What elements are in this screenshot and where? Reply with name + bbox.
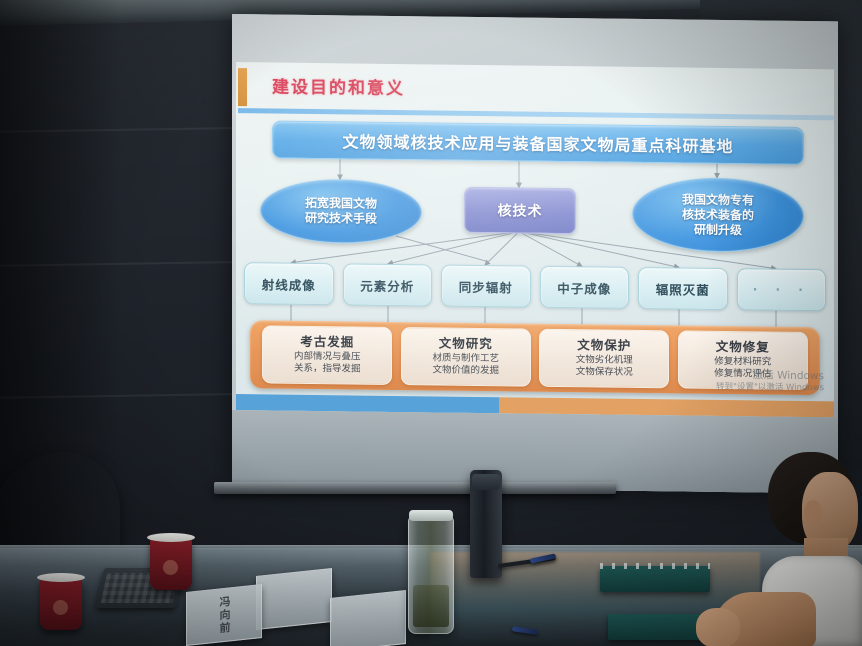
diagram-root-title: 文物领域核技术应用与装备国家文物局重点科研基地 — [272, 120, 804, 164]
node-left-goal: 拓宽我国文物 研究技术手段 — [260, 178, 422, 244]
diagram-root-title-text: 文物领域核技术应用与装备国家文物局重点科研基地 — [342, 128, 733, 157]
tech-label: 射线成像 — [262, 274, 316, 294]
name-card-3 — [330, 590, 406, 646]
name-card-1: 冯向前 — [186, 584, 262, 646]
attendee-ear — [804, 500, 822, 524]
application-band: 考古发掘 内部情况与叠压 关系，指导发掘 文物研究 材质与制作工艺 文物价值的发… — [250, 320, 820, 395]
paper-cup-left — [40, 578, 82, 630]
app-detail-2: 修复情况评估 — [714, 368, 771, 381]
name-card-text: 冯向前 — [216, 595, 232, 636]
tech-box-neutron-imaging: 中子成像 — [540, 266, 630, 309]
node-center-nuclear-tech: 核技术 — [464, 187, 576, 234]
slide-header: 建设目的和意义 — [236, 64, 834, 115]
app-detail-1: 修复材料研究 — [714, 356, 771, 369]
tech-label: 元素分析 — [360, 275, 414, 295]
node-left-label: 拓宽我国文物 研究技术手段 — [305, 196, 377, 227]
tea-leaves — [413, 585, 449, 627]
app-title: 考古发掘 — [300, 335, 354, 350]
tech-label: 同步辐射 — [459, 276, 513, 296]
app-detail-2: 关系，指导发掘 — [294, 362, 361, 375]
tech-label: 辐照灭菌 — [656, 279, 710, 299]
node-right-goal: 我国文物专有 核技术装备的 研制升级 — [632, 177, 804, 253]
app-title: 文物研究 — [439, 337, 493, 352]
name-card-2 — [256, 568, 332, 630]
app-detail-2: 文物保存状况 — [576, 366, 633, 379]
tea-jar — [408, 516, 454, 634]
conference-room-scene: 建设目的和意义 文物领域核技术应用与装备国家文物局重点科研基地 拓宽我国文物 研… — [0, 0, 862, 646]
projection-screen: 建设目的和意义 文物领域核技术应用与装备国家文物局重点科研基地 拓宽我国文物 研… — [232, 14, 838, 493]
tech-box-radiography: 射线成像 — [244, 262, 334, 305]
app-box-relic-protection: 文物保护 文物劣化机理 文物保存状况 — [539, 329, 669, 389]
app-detail-2: 文物价值的发掘 — [432, 364, 499, 377]
tech-box-ellipsis: · · · — [737, 268, 827, 311]
cup-logo-icon — [163, 560, 178, 575]
microphone — [470, 470, 502, 578]
technology-row: 射线成像 元素分析 同步辐射 中子成像 辐照灭菌 · · · — [244, 262, 826, 311]
tech-box-synchrotron: 同步辐射 — [441, 265, 531, 308]
node-right-label: 我国文物专有 核技术装备的 研制升级 — [682, 192, 754, 238]
presentation-slide: 建设目的和意义 文物领域核技术应用与装备国家文物局重点科研基地 拓宽我国文物 研… — [236, 62, 834, 417]
header-accent-bar — [238, 68, 247, 106]
app-title: 文物修复 — [716, 340, 770, 355]
app-box-relic-research: 文物研究 材质与制作工艺 文物价值的发掘 — [401, 327, 531, 387]
app-box-archaeology: 考古发掘 内部情况与叠压 关系，指导发掘 — [262, 325, 392, 385]
notebook-rings — [600, 563, 710, 569]
screen-housing-bar — [214, 482, 616, 494]
app-detail-1: 材质与制作工艺 — [432, 352, 499, 365]
paper-cup-back — [150, 538, 192, 590]
tech-box-elemental-analysis: 元素分析 — [343, 263, 433, 306]
app-title: 文物保护 — [577, 339, 631, 354]
ellipsis-icon: · · · — [753, 282, 810, 297]
tech-box-irradiation-sterilization: 辐照灭菌 — [638, 267, 728, 310]
attendee-hand — [696, 608, 740, 646]
seated-attendee — [706, 452, 862, 646]
notebook-1 — [600, 566, 710, 592]
tech-label: 中子成像 — [557, 277, 611, 297]
app-detail-1: 内部情况与叠压 — [294, 351, 361, 364]
node-center-label: 核技术 — [498, 200, 543, 221]
slide-header-title: 建设目的和意义 — [272, 72, 405, 99]
app-detail-1: 文物劣化机理 — [576, 354, 633, 367]
app-box-relic-restoration: 文物修复 修复材料研究 修复情况评估 — [678, 330, 808, 390]
cup-logo-icon — [53, 600, 68, 615]
